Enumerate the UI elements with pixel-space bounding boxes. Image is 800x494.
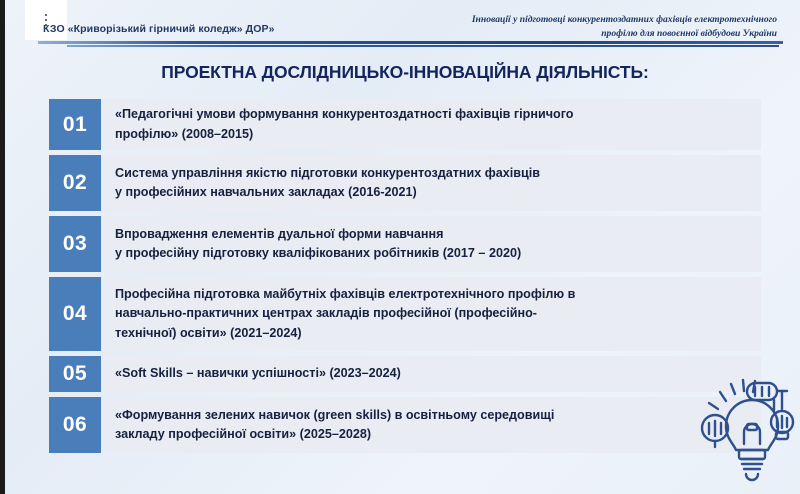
item-text-line-2: навчально-практичних центрах закладів пр… xyxy=(115,304,575,324)
item-text: «Педагогічні умови формування конкуренто… xyxy=(101,99,761,150)
item-text: Впровадження елементів дуальної форми на… xyxy=(101,216,761,272)
page-title: ПРОЕКТНА ДОСЛІДНИЦЬКО-ІННОВАЦІЙНА ДІЯЛЬН… xyxy=(5,62,800,83)
item-text-line-1: Впровадження елементів дуальної форми на… xyxy=(115,225,521,245)
item-text-line-1: Професійна підготовка майбутніх фахівців… xyxy=(115,285,575,305)
item-text: «Формування зелених навичок (green skill… xyxy=(101,397,761,453)
list-item: 02 Система управління якістю підготовки … xyxy=(49,155,761,211)
organization-name: КЗО «Криворізький гірничий коледж» ДОР» xyxy=(43,23,275,35)
list-item: 01 «Педагогічні умови формування конкуре… xyxy=(49,99,761,150)
item-text-line-1: «Формування зелених навичок (green skill… xyxy=(115,406,554,426)
item-text-line-3: технічної) освіти» (2021–2024) xyxy=(115,324,575,344)
item-number-badge: 05 xyxy=(49,356,101,392)
slide: КЗО «Криворізький гірничий коледж» ДОР» … xyxy=(0,0,800,494)
dot xyxy=(45,14,47,16)
item-number-badge: 04 xyxy=(49,277,101,351)
item-text-line-1: «Педагогічні умови формування конкуренто… xyxy=(115,105,573,125)
item-text: Система управління якістю підготовки кон… xyxy=(101,155,761,211)
list-item: 05 «Soft Skills – навички успішності» (2… xyxy=(49,356,761,392)
item-number-badge: 03 xyxy=(49,216,101,272)
slide-header: КЗО «Криворізький гірничий коледж» ДОР» … xyxy=(5,0,800,52)
dot xyxy=(45,19,47,21)
list-item: 06 «Формування зелених навичок (green sk… xyxy=(49,397,761,453)
item-number-badge: 01 xyxy=(49,99,101,150)
item-text-line-1: «Soft Skills – навички успішності» (2023… xyxy=(115,364,401,384)
header-divider-lower xyxy=(67,45,779,47)
item-text-line-2: у професійну підготовку кваліфікованих р… xyxy=(115,244,521,264)
header-divider-upper xyxy=(38,41,783,44)
item-number-badge: 06 xyxy=(49,397,101,453)
list-item: 04 Професійна підготовка майбутніх фахів… xyxy=(49,277,761,351)
item-text: «Soft Skills – навички успішності» (2023… xyxy=(101,356,761,392)
topic-line-1: Інновації у підготовці конкурентоздатних… xyxy=(357,13,777,27)
topic-line-2: профілю для повоєнної відбудови України xyxy=(357,27,777,41)
project-list: 01 «Педагогічні умови формування конкуре… xyxy=(49,99,761,458)
presentation-topic: Інновації у підготовці конкурентоздатних… xyxy=(357,13,777,40)
item-text-line-1: Система управління якістю підготовки кон… xyxy=(115,164,540,184)
item-text-line-2: профілю» (2008–2015) xyxy=(115,125,573,145)
item-text-line-2: у професійних навчальних закладах (2016-… xyxy=(115,183,540,203)
list-item: 03 Впровадження елементів дуальної форми… xyxy=(49,216,761,272)
item-text: Професійна підготовка майбутніх фахівців… xyxy=(101,277,761,351)
item-text-line-2: закладу професійної освіти» (2025–2028) xyxy=(115,425,554,445)
item-number-badge: 02 xyxy=(49,155,101,211)
